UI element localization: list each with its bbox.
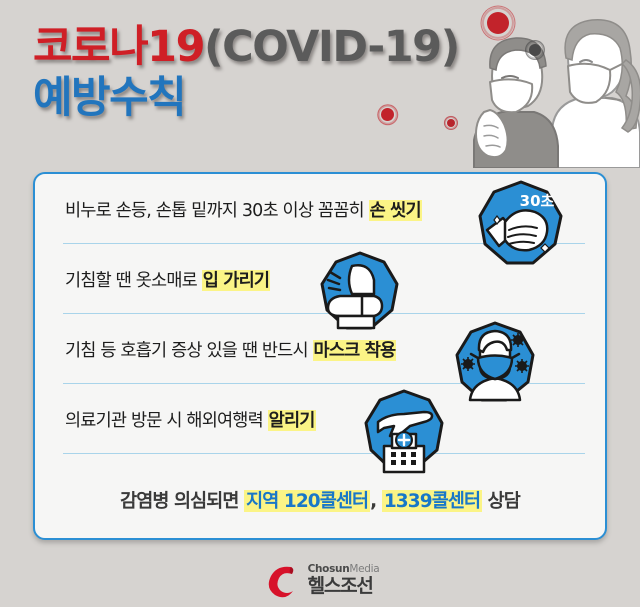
- wear-mask-icon: [452, 320, 538, 406]
- cough-into-sleeve-icon: [318, 250, 402, 334]
- rule-text-highlight: 입 가리기: [202, 270, 271, 291]
- rule-text-plain: 의료기관 방문 시 해외여행력: [65, 411, 268, 431]
- rule-text-hand-washing: 비누로 손등, 손톱 밑까지 30초 이상 꼼꼼히 손 씻기: [65, 197, 422, 222]
- travel-history-hospital-icon: [360, 388, 448, 476]
- rule-text-highlight: 손 씻기: [369, 200, 422, 221]
- virus-particle-red-small: [447, 119, 455, 127]
- covid-prevention-poster: 코로나19(COVID-19) 예방수칙 비누로 손등, 손톱 밑까지 30초 …: [0, 0, 640, 607]
- rule-text-plain: 기침할 땐 옷소매로: [65, 271, 202, 291]
- callout-suffix: 상담: [482, 491, 520, 512]
- rule-text-plain: 비누로 손등, 손톱 밑까지 30초 이상 꼼꼼히: [65, 201, 369, 221]
- rule-divider: [63, 453, 585, 455]
- logo-brand-english: ChosunMedia: [308, 564, 380, 575]
- rule-text-wear-mask: 기침 등 호흡기 증상 있을 땐 반드시 마스크 착용: [65, 337, 396, 362]
- prevention-rules-panel: 비누로 손등, 손톱 밑까지 30초 이상 꼼꼼히 손 씻기 기침할 땐 옷소매…: [33, 172, 607, 540]
- virus-particle-large-red: [487, 12, 509, 34]
- poster-title-line-1: 코로나19(COVID-19): [33, 26, 459, 69]
- masked-people-illustration: [440, 0, 640, 168]
- emergency-contact-text: 감염병 의심되면 지역 120콜센터, 1339콜센터 상담: [120, 487, 520, 513]
- logo-brand-media: Media: [349, 563, 379, 575]
- logo-brand-chosun: Chosun: [308, 563, 350, 575]
- title-block: 코로나19(COVID-19) 예방수칙: [33, 26, 459, 120]
- chosun-logo-mark-icon: [261, 561, 299, 599]
- poster-subtitle: 예방수칙: [33, 77, 459, 120]
- poster-header: 코로나19(COVID-19) 예방수칙: [0, 0, 640, 168]
- rule-text-highlight: 알리기: [268, 410, 316, 431]
- rule-text-plain: 기침 등 호흡기 증상 있을 땐 반드시: [65, 341, 313, 361]
- poster-title-korean: 코로나19: [33, 22, 204, 72]
- callout-separator: ,: [370, 491, 382, 512]
- callout-prefix: 감염병 의심되면: [120, 491, 244, 512]
- virus-particle-dark: [529, 44, 541, 56]
- emergency-contact-callout: 감염병 의심되면 지역 120콜센터, 1339콜센터 상담: [35, 462, 605, 538]
- rule-text-highlight: 마스크 착용: [313, 340, 397, 361]
- rule-text-cough-sleeve: 기침할 땐 옷소매로 입 가리기: [65, 267, 270, 292]
- badge-label-30sec: 30초: [520, 192, 555, 210]
- callout-hotline-local: 지역 120콜센터: [244, 490, 370, 512]
- rule-text-travel-history: 의료기관 방문 시 해외여행력 알리기: [65, 407, 316, 432]
- callout-hotline-1339: 1339콜센터: [382, 490, 482, 512]
- poster-title-english: (COVID-19): [204, 22, 459, 72]
- logo-brand-korean: 헬스조선: [308, 577, 380, 596]
- chosun-media-logo: ChosunMedia 헬스조선: [0, 556, 640, 604]
- hand-washing-icon: 30초: [475, 178, 567, 270]
